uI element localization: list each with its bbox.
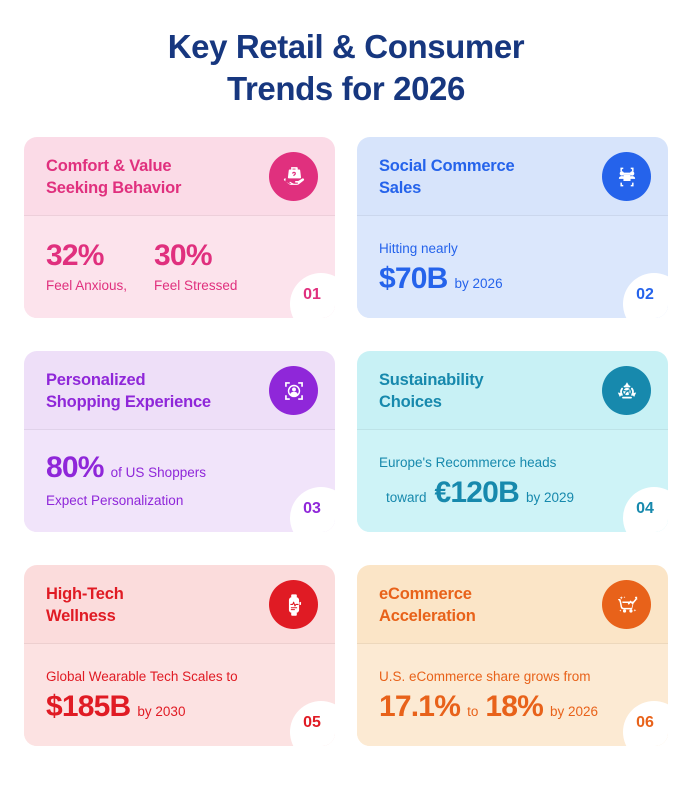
stat-prefix-text: Hitting nearly	[379, 239, 646, 259]
stat-suffix-text: by 2030	[137, 702, 185, 722]
stat-value: 32%	[46, 239, 127, 273]
stat-group: Europe's Recommerce heads toward €120B b…	[379, 453, 646, 510]
hands-shopping-bag-icon	[269, 152, 318, 201]
stat-group: U.S. eCommerce share grows from 17.1% to…	[379, 667, 646, 724]
stat-suffix-text: by 2026	[455, 274, 503, 294]
card-body: 32% Feel Anxious, 30% Feel Stressed 01	[24, 216, 335, 318]
infographic-page: Key Retail & Consumer Trends for 2026 Co…	[0, 0, 692, 800]
stat-suffix-text: by 2029	[526, 488, 574, 508]
person-target-icon	[269, 366, 318, 415]
card-title: Personalized Shopping Experience	[46, 369, 211, 413]
page-title-line-2: Trends for 2026	[24, 68, 668, 110]
stat-group: 32% Feel Anxious, 30% Feel Stressed	[46, 239, 313, 296]
card-title: Sustainability Choices	[379, 369, 483, 413]
social-storefront-icon	[602, 152, 651, 201]
card-number: 03	[303, 500, 321, 518]
stat-label: Feel Anxious,	[46, 276, 127, 296]
card-header: High-Tech Wellness	[24, 565, 335, 644]
card-title-line-2: Seeking Behavior	[46, 179, 181, 197]
card-body: 80% of US Shoppers Expect Personalizatio…	[24, 430, 335, 532]
stat-group: 80% of US Shoppers Expect Personalizatio…	[46, 451, 313, 511]
card-title: Comfort & Value Seeking Behavior	[46, 155, 181, 199]
stat-suffix-text: by 2026	[550, 702, 598, 722]
stat-label: Feel Stressed	[154, 276, 237, 296]
card-header: Comfort & Value Seeking Behavior	[24, 137, 335, 216]
stat-sub-text: Expect Personalization	[46, 491, 313, 511]
card-header: Personalized Shopping Experience	[24, 351, 335, 430]
stat-row: $185B by 2030	[46, 690, 313, 724]
card-header: Sustainability Choices	[357, 351, 668, 430]
stat-value: 30%	[154, 239, 237, 273]
card-number: 02	[636, 286, 654, 304]
trend-card-grid: Comfort & Value Seeking Behavior 32% Fee…	[24, 137, 668, 746]
card-number: 05	[303, 714, 321, 732]
card-header: Social Commerce Sales	[357, 137, 668, 216]
stat-suffix-text: of US Shoppers	[111, 463, 206, 483]
stat-row: 17.1% to 18% by 2026	[379, 690, 646, 724]
stat-row: toward €120B by 2029	[379, 476, 646, 510]
stat-item: 30% Feel Stressed	[154, 239, 237, 296]
trend-card[interactable]: High-Tech Wellness	[24, 565, 335, 746]
trend-card[interactable]: Personalized Shopping Experience 80% of …	[24, 351, 335, 532]
trend-card[interactable]: Comfort & Value Seeking Behavior 32% Fee…	[24, 137, 335, 318]
card-title: High-Tech Wellness	[46, 583, 124, 627]
trend-card[interactable]: Social Commerce Sales Hitting	[357, 137, 668, 318]
card-title-line-2: Acceleration	[379, 607, 476, 625]
stat-mid-text: to	[467, 702, 478, 722]
cart-growth-arrow-icon	[602, 580, 651, 629]
card-number: 01	[303, 286, 321, 304]
stat-value: $185B	[46, 690, 130, 724]
stat-group: Global Wearable Tech Scales to $185B by …	[46, 667, 313, 724]
recycle-globe-icon	[602, 366, 651, 415]
card-title-line-2: Shopping Experience	[46, 393, 211, 411]
trend-card[interactable]: Sustainability Choices	[357, 351, 668, 532]
stat-value-2: 18%	[485, 690, 543, 724]
card-title-line-1: eCommerce	[379, 585, 472, 603]
smartwatch-pulse-icon	[269, 580, 318, 629]
card-number: 06	[636, 714, 654, 732]
stat-value: $70B	[379, 262, 448, 296]
card-header: eCommerce Acceleration	[357, 565, 668, 644]
stat-value: 80%	[46, 451, 104, 485]
stat-lead-text: toward	[386, 488, 427, 508]
card-title: eCommerce Acceleration	[379, 583, 476, 627]
stat-value: €120B	[435, 476, 519, 510]
stat-group: Hitting nearly $70B by 2026	[379, 239, 646, 296]
card-body: Hitting nearly $70B by 2026 02	[357, 216, 668, 318]
stat-prefix-text: Europe's Recommerce heads	[379, 453, 646, 473]
card-body: Europe's Recommerce heads toward €120B b…	[357, 430, 668, 532]
card-body: Global Wearable Tech Scales to $185B by …	[24, 644, 335, 746]
stat-row: $70B by 2026	[379, 262, 646, 296]
stat-prefix-text: Global Wearable Tech Scales to	[46, 667, 313, 687]
page-title-line-1: Key Retail & Consumer	[24, 26, 668, 68]
card-title-line-2: Wellness	[46, 607, 116, 625]
stat-prefix-text: U.S. eCommerce share grows from	[379, 667, 646, 687]
card-title-line-1: Personalized	[46, 371, 145, 389]
card-title-line-2: Sales	[379, 179, 421, 197]
stat-value: 17.1%	[379, 690, 460, 724]
stat-item: 32% Feel Anxious,	[46, 239, 127, 296]
card-body: U.S. eCommerce share grows from 17.1% to…	[357, 644, 668, 746]
card-title-line-1: High-Tech	[46, 585, 124, 603]
card-title-line-1: Social Commerce	[379, 157, 514, 175]
card-title-line-1: Comfort & Value	[46, 157, 171, 175]
card-title-line-1: Sustainability	[379, 371, 483, 389]
page-title: Key Retail & Consumer Trends for 2026	[24, 0, 668, 110]
trend-card[interactable]: eCommerce Acceleration	[357, 565, 668, 746]
card-number: 04	[636, 500, 654, 518]
card-title-line-2: Choices	[379, 393, 442, 411]
stat-row: 80% of US Shoppers	[46, 451, 313, 485]
card-title: Social Commerce Sales	[379, 155, 514, 199]
